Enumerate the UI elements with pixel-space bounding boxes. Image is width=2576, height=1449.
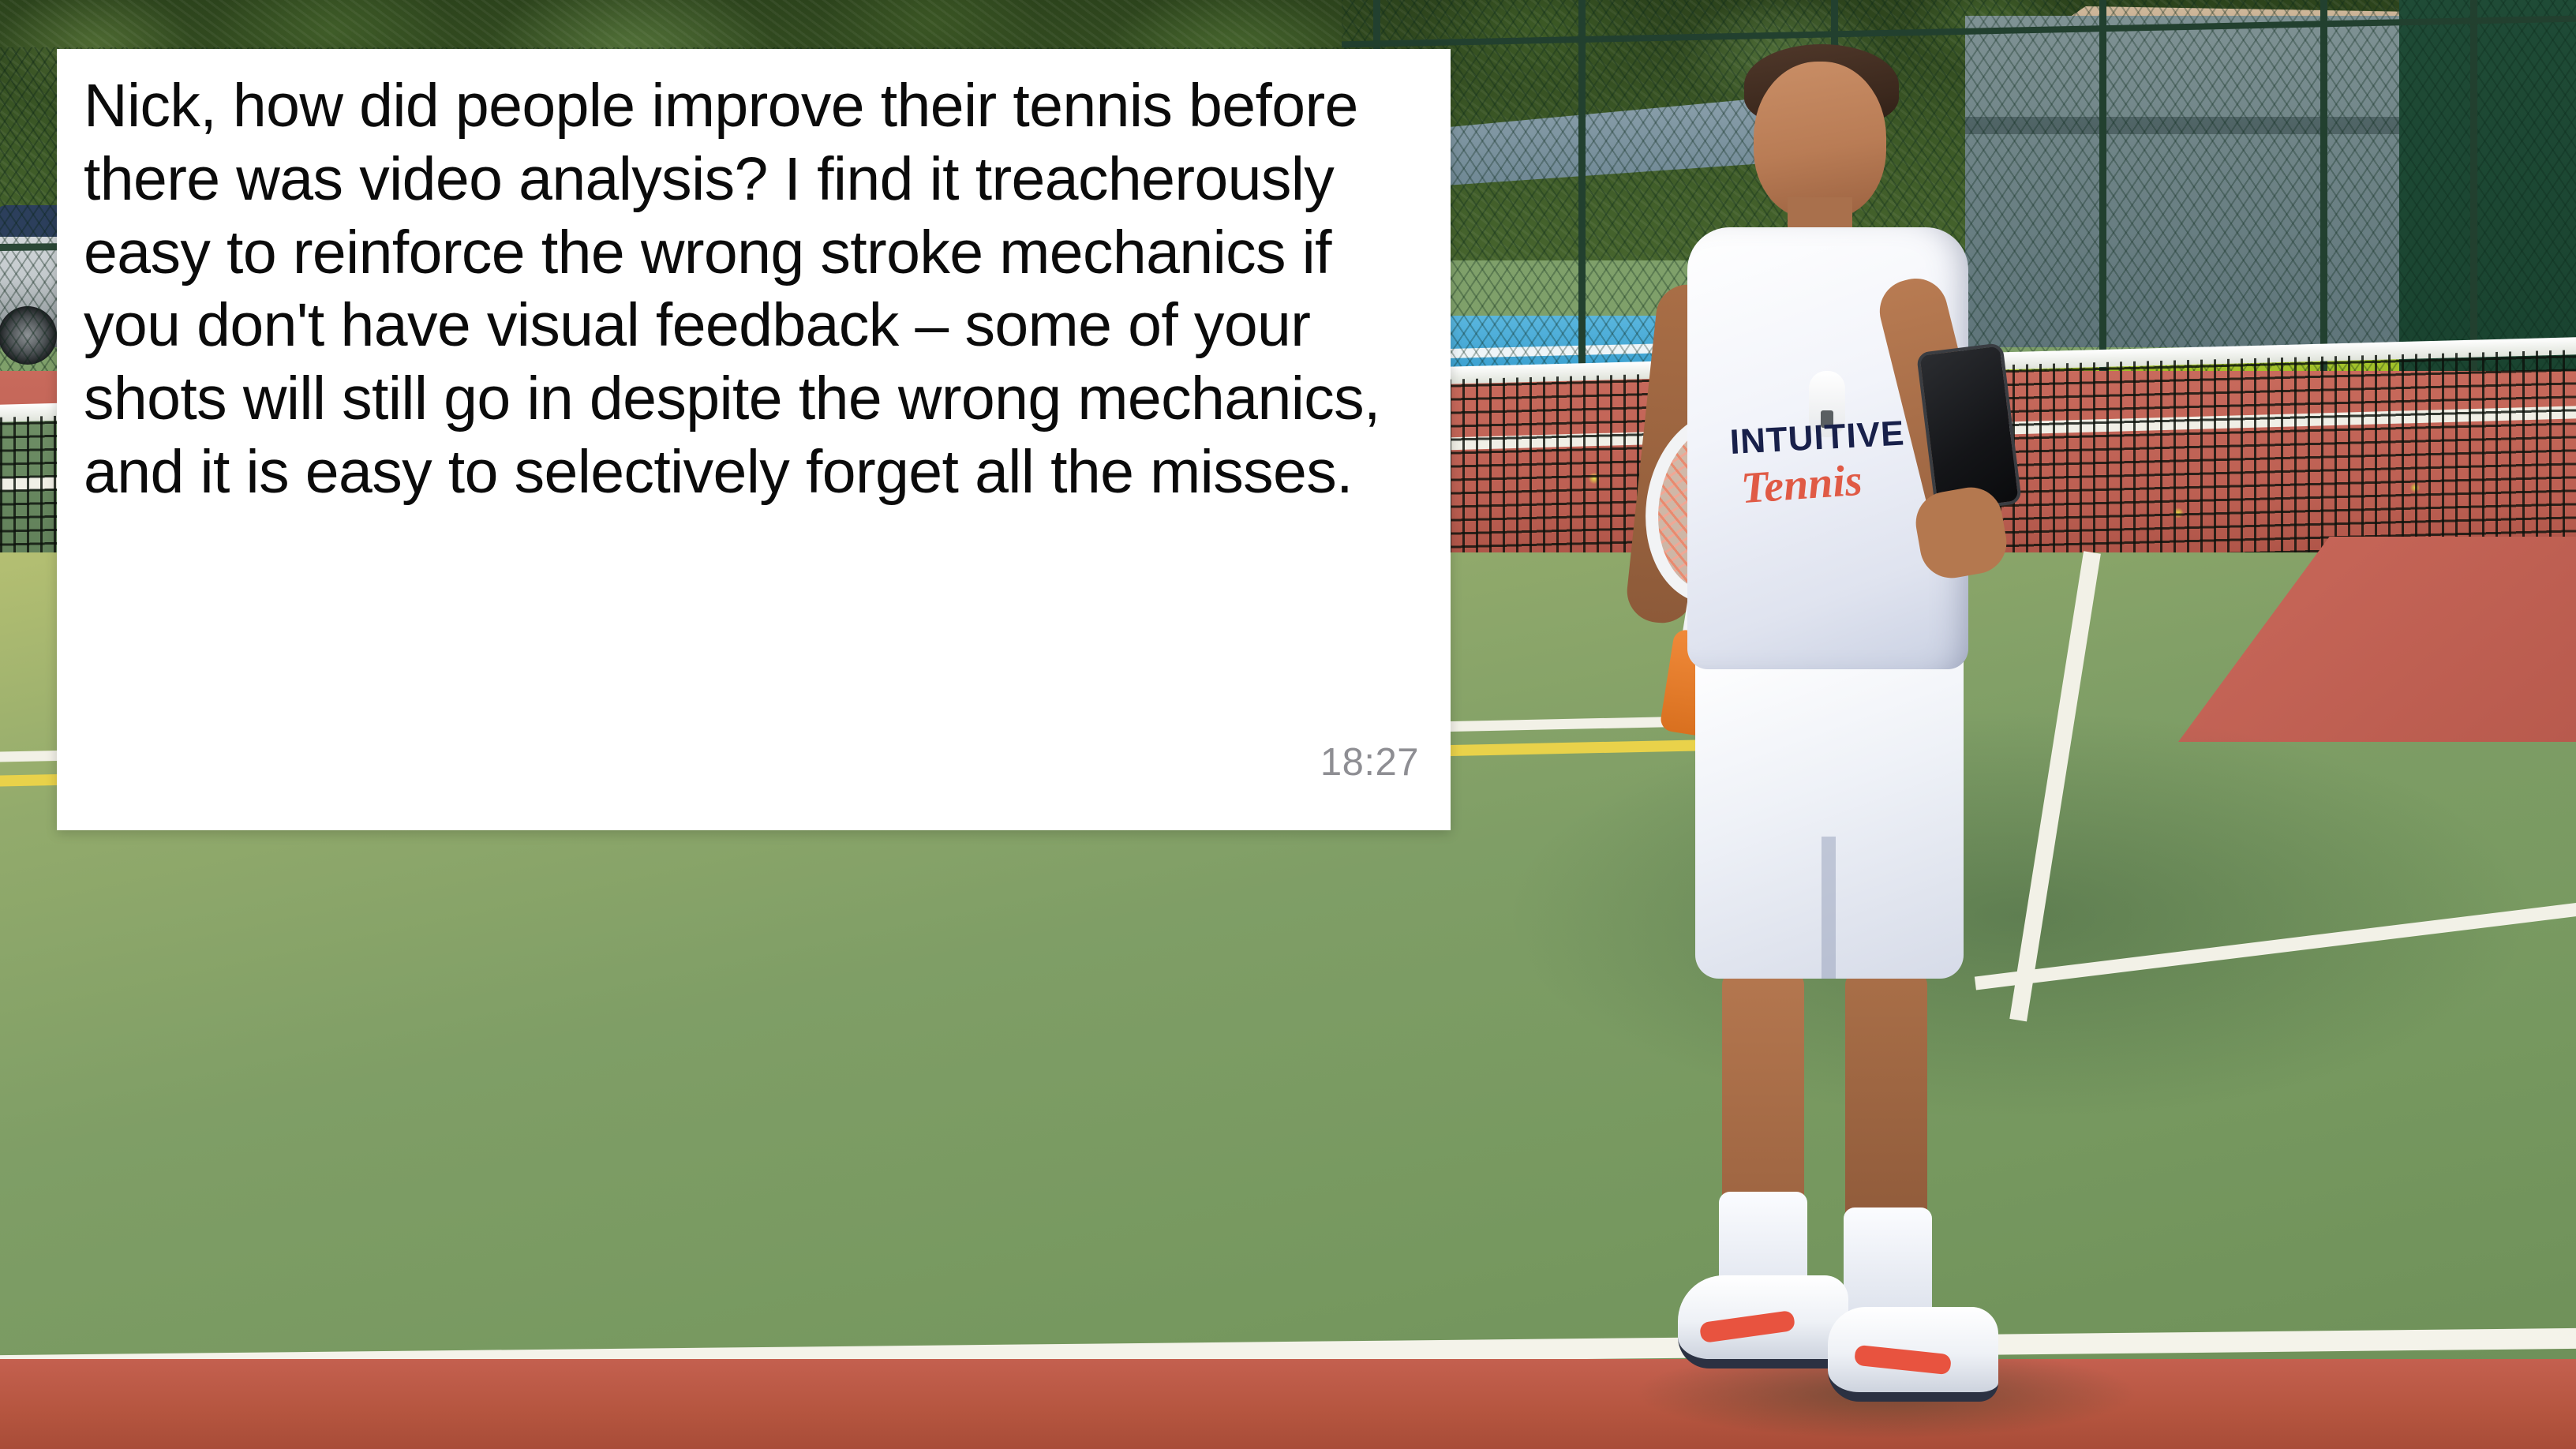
message-text: Nick, how did people improve their tenni…: [84, 69, 1424, 509]
shorts-fold: [1822, 837, 1836, 979]
tennis-coach-figure: INTUITIVE Tennis: [1626, 47, 2115, 1449]
message-timestamp: 18:27: [1320, 740, 1419, 784]
right-shoe: [1828, 1307, 1998, 1402]
chat-message-bubble[interactable]: Nick, how did people improve their tenni…: [57, 49, 1451, 830]
head: [1754, 62, 1886, 219]
screenshot-canvas: INTUITIVE Tennis Nick, how did people im…: [0, 0, 2576, 1449]
right-leg: [1845, 971, 1927, 1239]
right-sock: [1844, 1207, 1932, 1318]
left-shoe: [1678, 1275, 1848, 1368]
